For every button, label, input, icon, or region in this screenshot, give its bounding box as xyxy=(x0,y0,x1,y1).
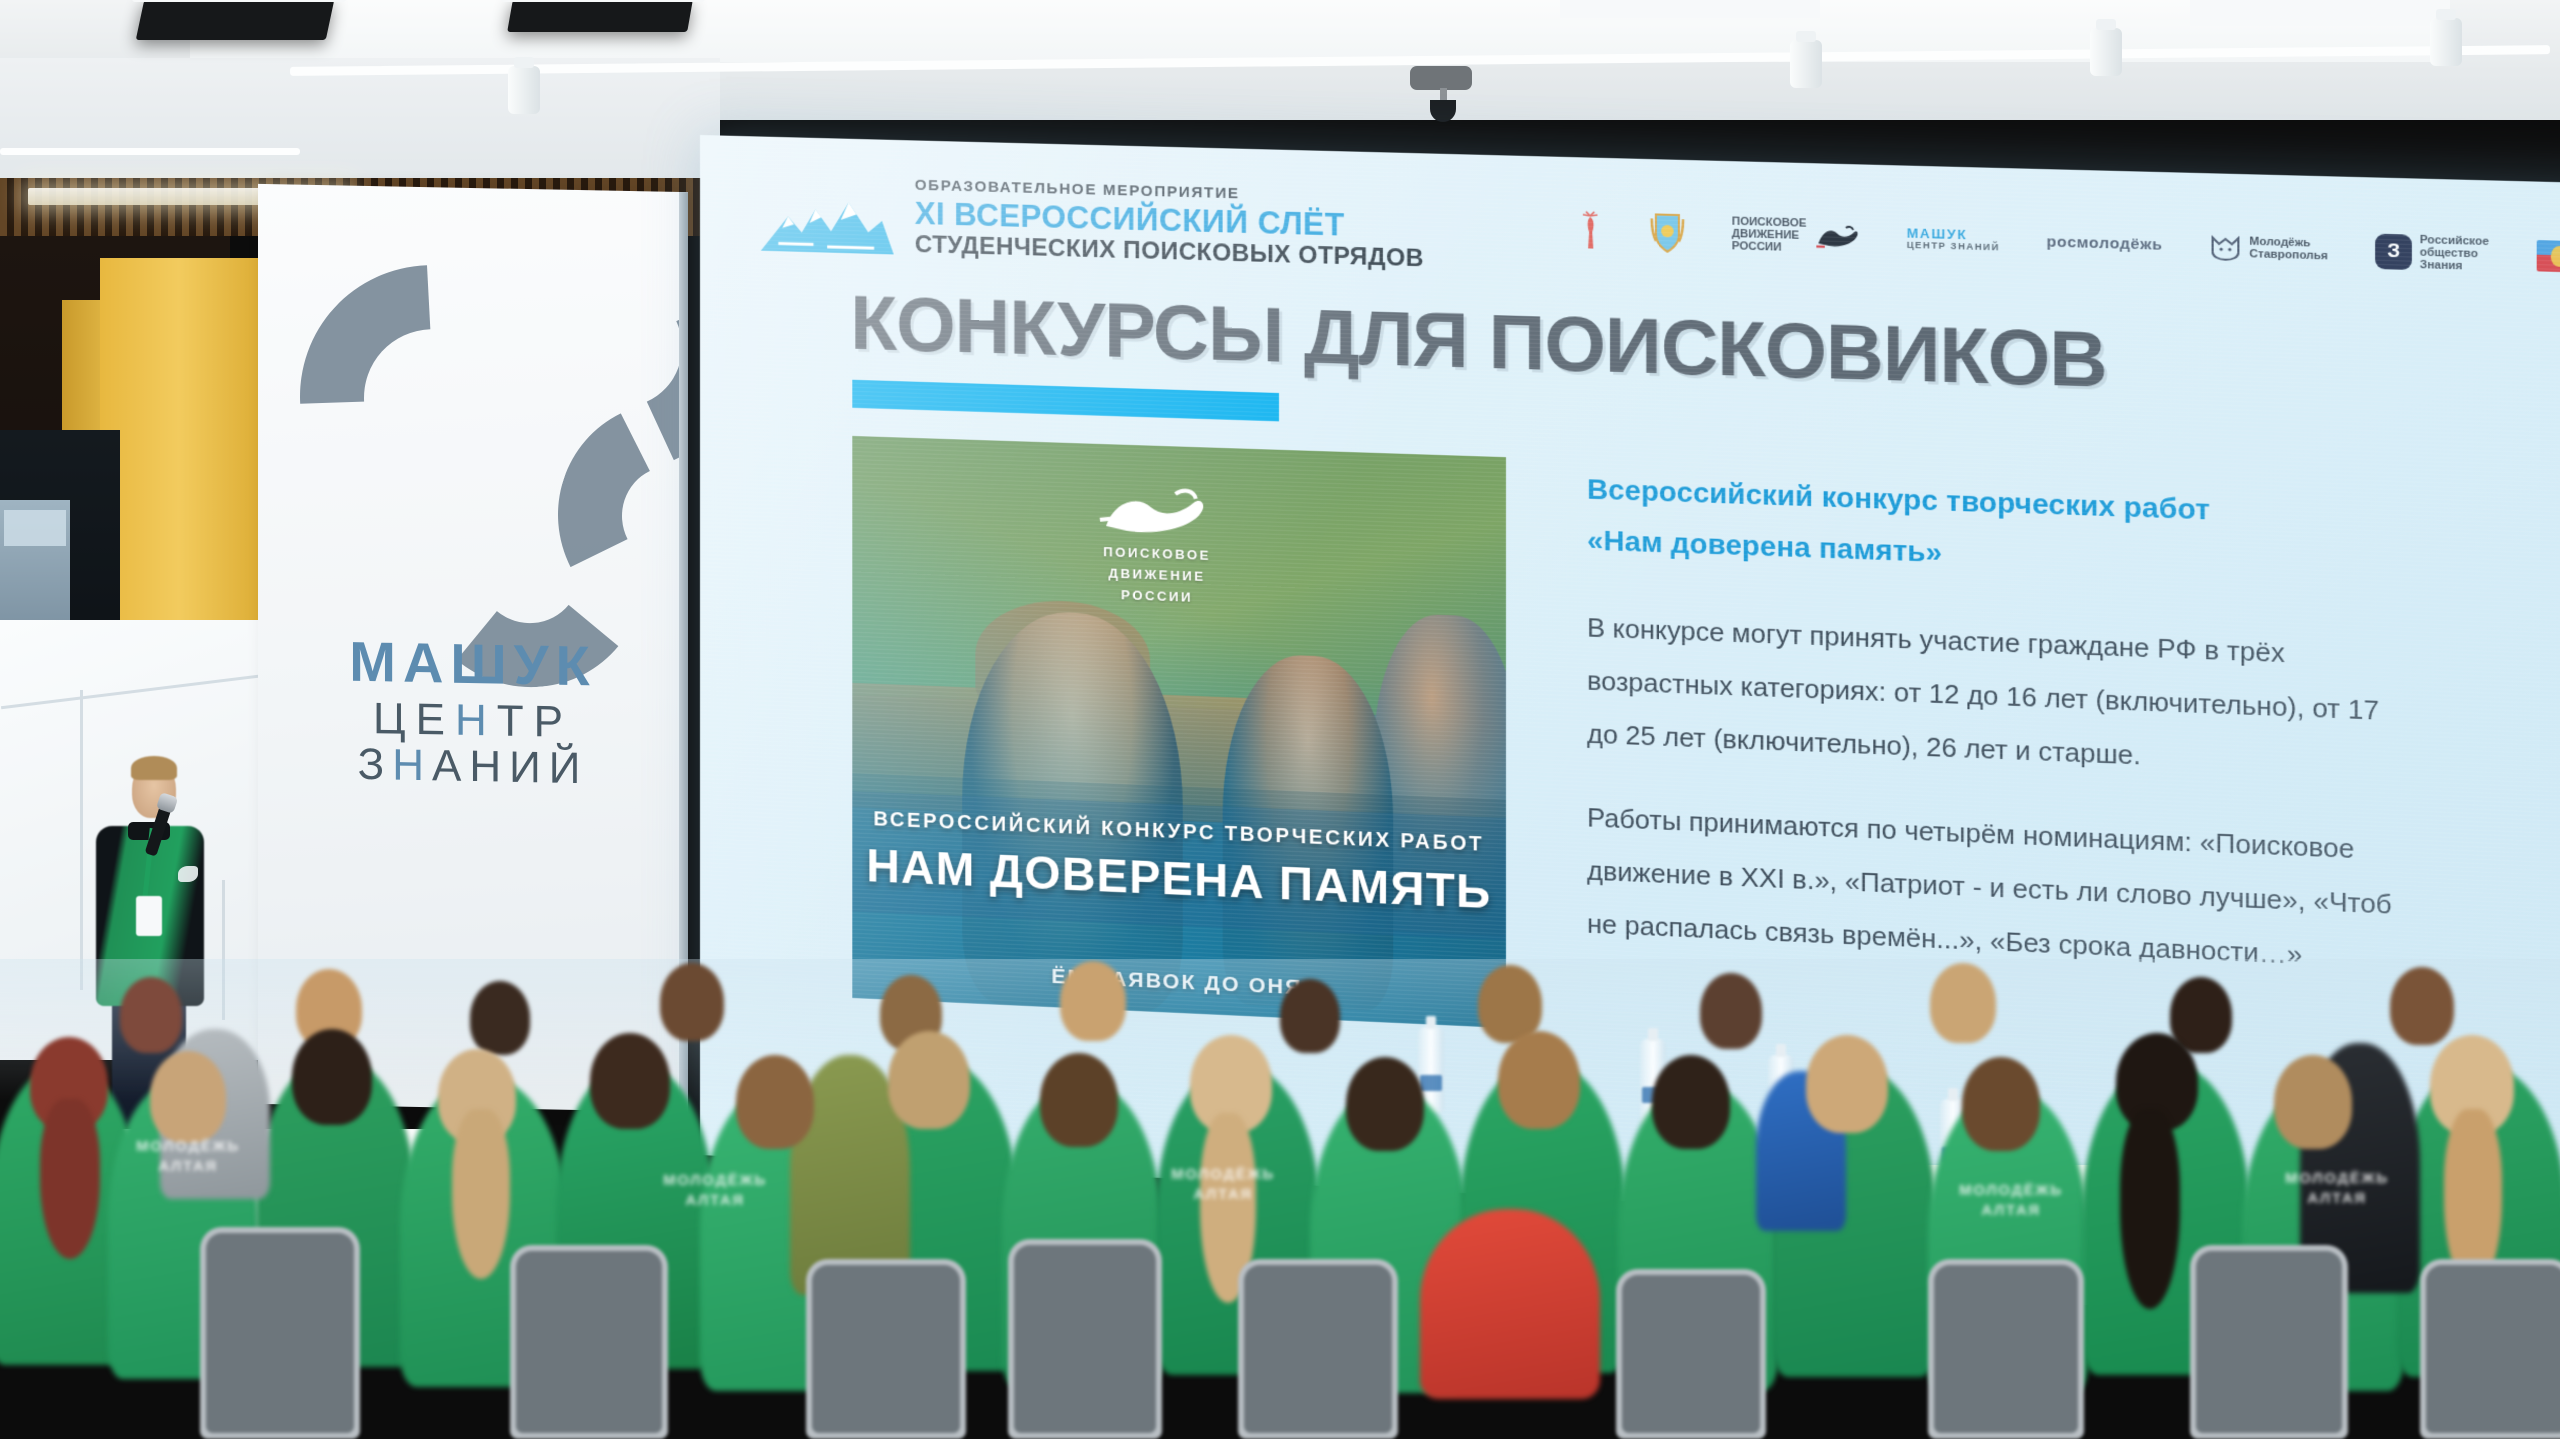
audience-member-red-jacket xyxy=(1420,1209,1600,1399)
audience-head xyxy=(888,1031,970,1129)
rosmolodezh-label: росмолодёжь xyxy=(2047,234,2163,255)
title-accent-bar xyxy=(852,380,1279,422)
speaker-hair xyxy=(131,756,177,780)
logo-region-flag xyxy=(2537,240,2560,273)
banquet-chair xyxy=(510,1245,668,1439)
znanie-society-icon: З xyxy=(2375,234,2412,270)
audience-area: МОЛОДЁЖЬ АЛТАЯ МОЛОДЁЖЬ АЛТАЯ МОЛОДЁЖЬ А… xyxy=(0,959,2560,1439)
audience-head xyxy=(292,1029,372,1125)
logo-molodezh-stavropolya: МолодёжьСтаврополья xyxy=(2210,233,2328,263)
banquet-chair xyxy=(2190,1245,2348,1439)
banquet-chair xyxy=(806,1259,966,1439)
stavropol-coat-of-arms-icon xyxy=(1650,210,1686,254)
light-track-rail xyxy=(0,148,300,155)
deer-emblem-icon xyxy=(1577,209,1604,251)
banner-logo-centr: ЦЕНТР xyxy=(258,694,688,748)
vest-label: МОЛОДЁЖЬ АЛТАЯ xyxy=(1148,1165,1298,1204)
logo-deer-emblem xyxy=(1577,209,1604,251)
body-paragraph-1: В конкурсе могут принять участие граждан… xyxy=(1587,600,2415,792)
slide-body-column: Всероссийский конкурс творческих работ «… xyxy=(1587,464,2415,986)
molodezh-stavropolya-icon xyxy=(2210,233,2242,261)
audience-head xyxy=(1930,963,1996,1043)
body-paragraph-2: Работы принимаются по четырём номинациям… xyxy=(1587,790,2415,986)
mashuk-banner-logo: МАШУК ЦЕНТР ЗНАНИЙ xyxy=(258,632,688,795)
banquet-chair xyxy=(1928,1259,2084,1439)
audience-head xyxy=(1040,1053,1118,1147)
ceiling-spotlight xyxy=(2430,18,2462,66)
logo-znanie-society: З РоссийскоеобществоЗнания xyxy=(2375,232,2488,274)
slide-header: ОБРАЗОВАТЕЛЬНОЕ МЕРОПРИЯТИЕ XI ВСЕРОССИЙ… xyxy=(758,173,1424,274)
hanging-stage-light xyxy=(507,0,693,32)
banner-logo-mashuk: МАШУК xyxy=(258,632,688,696)
audience-head xyxy=(590,1033,670,1129)
mountains-icon xyxy=(758,182,897,258)
speaker-jacket-logo xyxy=(178,866,198,882)
audience-hair xyxy=(2120,1109,2180,1309)
poster-pdr-logo: ПОИСКОВОЕ ДВИЖЕНИЕ РОССИИ xyxy=(1046,482,1268,611)
molodezh-stavropolya-label: МолодёжьСтаврополья xyxy=(2249,235,2327,263)
audience-head xyxy=(120,977,182,1053)
banquet-chair xyxy=(200,1227,360,1439)
partner-logo-strip: ПОИСКОВОЕДВИЖЕНИЕРОССИИ МАШУКЦЕНТР ЗНАНИ… xyxy=(1577,200,2560,287)
ceiling-spotlight xyxy=(1790,40,1822,88)
ceiling-notch xyxy=(1560,0,1820,18)
region-flag-icon xyxy=(2537,240,2560,273)
audience-head xyxy=(1498,1031,1580,1129)
audience-head xyxy=(2274,1055,2352,1149)
audience-head xyxy=(2390,967,2454,1045)
logo-poiskovoe-dvizhenie: ПОИСКОВОЕДВИЖЕНИЕРОССИИ xyxy=(1732,215,1860,256)
ceiling-spotlight xyxy=(508,66,540,114)
logo-rosmolodezh: росмолодёжь xyxy=(2047,234,2163,255)
vest-label: МОЛОДЁЖЬ АЛТАЯ xyxy=(118,1137,258,1176)
banquet-chair xyxy=(1238,1259,1398,1439)
audience-head xyxy=(1280,979,1340,1053)
audience-hair xyxy=(452,1109,510,1279)
audience-head xyxy=(1806,1035,1888,1133)
audience-head xyxy=(1346,1057,1424,1151)
hanging-stage-light xyxy=(136,0,335,40)
mashuk-logo-label: МАШУКЦЕНТР ЗНАНИЙ xyxy=(1907,227,2000,253)
poiskovoe-dvizhenie-icon xyxy=(1046,482,1268,542)
audience-head xyxy=(1962,1057,2040,1151)
audience-head xyxy=(470,981,530,1055)
wall-seam xyxy=(80,690,83,990)
banner-logo-znaniy: ЗНАНИЙ xyxy=(258,740,688,794)
audience-head xyxy=(1700,973,1762,1049)
ceiling-soffit xyxy=(0,58,720,178)
conference-hall-scene: МАШУК ЦЕНТР ЗНАНИЙ ОБРАЗОВАТЕЛЬНОЕ МЕРОП… xyxy=(0,0,2560,1439)
banquet-chair xyxy=(2420,1259,2560,1439)
ceiling-spotlight xyxy=(2090,28,2122,76)
banquet-chair xyxy=(1616,1269,1766,1439)
vest-label: МОЛОДЁЖЬ АЛТАЯ xyxy=(1936,1181,2086,1220)
audience-head xyxy=(1060,961,1126,1041)
logo-stavropol-coat-of-arms xyxy=(1650,210,1686,254)
audience-hair xyxy=(40,1099,100,1259)
poiskovoe-dvizhenie-icon xyxy=(1814,223,1860,251)
banquet-chair xyxy=(1008,1239,1162,1439)
vest-label: МОЛОДЁЖЬ АЛТАЯ xyxy=(2262,1169,2412,1208)
audience-head xyxy=(736,1055,814,1149)
znanie-society-label: РоссийскоеобществоЗнания xyxy=(2420,233,2489,273)
logo-mashuk: МАШУКЦЕНТР ЗНАНИЙ xyxy=(1907,227,2000,253)
mashuk-logo-sublabel: ЦЕНТР ЗНАНИЙ xyxy=(1907,241,2000,253)
contest-poster: ПОИСКОВОЕ ДВИЖЕНИЕ РОССИИ ВСЕРОССИЙСКИЙ … xyxy=(852,436,1506,1028)
audience-head xyxy=(150,1051,226,1143)
speaker-badge xyxy=(136,896,162,936)
audience-head xyxy=(1652,1055,1730,1149)
poiskovoe-dvizhenie-label: ПОИСКОВОЕДВИЖЕНИЕРОССИИ xyxy=(1732,215,1807,255)
ceiling-notch xyxy=(2190,0,2450,26)
audience-head xyxy=(660,963,724,1041)
security-camera xyxy=(1410,66,1472,90)
vest-label: МОЛОДЁЖЬ АЛТАЯ xyxy=(640,1171,790,1210)
